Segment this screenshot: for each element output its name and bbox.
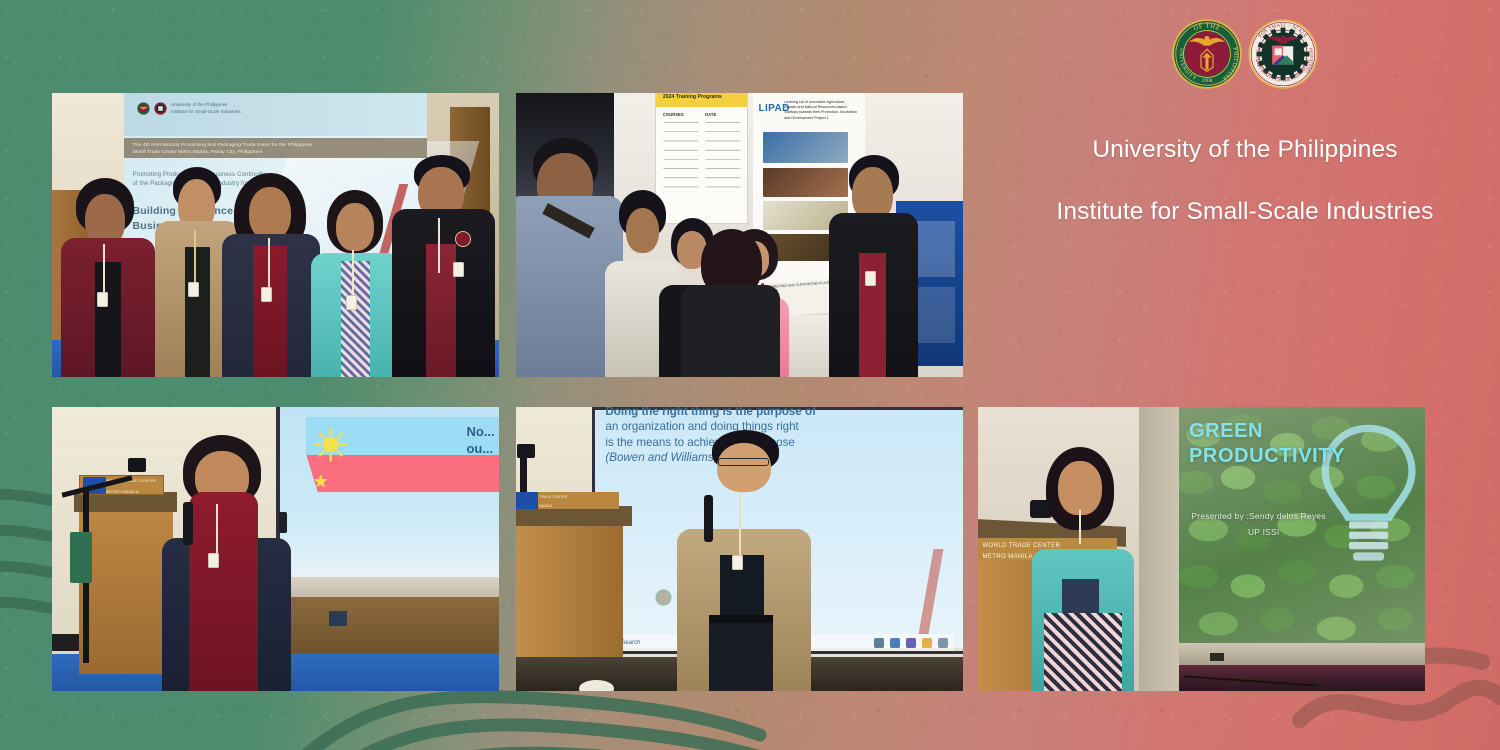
photo-green-productivity: GREEN PRODUCTIVITY Presented by :Sendy d…	[978, 407, 1425, 691]
page-title: University of the Philippines Institute …	[1040, 104, 1450, 258]
photo4-taskbar-icon-1[interactable]	[874, 638, 884, 648]
photo5-speaker-microphone	[1030, 500, 1053, 517]
photo2-visitor-2-head	[626, 208, 659, 253]
photo1-person-3	[222, 173, 320, 377]
photo2-staff-right-badge	[865, 271, 876, 286]
photo5-speaker-head	[1058, 461, 1101, 515]
photo4-podium-top	[516, 506, 632, 526]
photo1-slide-event: The 4th International Processing and Pac…	[132, 142, 409, 156]
photo5-speaker-lanyard	[1079, 510, 1081, 544]
up-seal-icon: OF THE UNIVERSITY PHILIPPINES 1908	[1171, 18, 1243, 90]
photo4-speaker-trousers	[709, 623, 773, 691]
photo4-speaker-head	[717, 443, 771, 493]
photo1-person-3-badge	[261, 287, 272, 302]
photo4-taskbar-icon-3[interactable]	[906, 638, 916, 648]
photo4-quote-line-1: Doing the right thing is the purpose of	[605, 407, 945, 419]
photo1-person-3-head	[249, 187, 290, 240]
photo-group-five: University of the Philippines Institute …	[52, 93, 499, 377]
photo3-screen-ledge	[276, 577, 500, 597]
photo1-person-5-inner	[426, 244, 457, 377]
photo4-speaker-belt	[709, 615, 773, 623]
photo3-presentation-screen: No... ou...	[280, 407, 499, 577]
photo1-slide-org: University of the Philippines Institute …	[171, 102, 241, 115]
photo5-speaker	[1032, 447, 1135, 691]
photo-speaker-flag: No... ou... WORLD TRADE CENTER METRO MAN…	[52, 407, 499, 691]
photo2-visitor-signing	[681, 229, 779, 377]
photo2-staff-right	[829, 155, 918, 377]
photo1-person-4-badge	[346, 295, 357, 310]
photo5-screen-glare	[1179, 407, 1425, 643]
photo3-speaker-badge	[208, 553, 219, 568]
photo1-person-4-inner	[341, 261, 370, 377]
photo1-person-1-inner	[95, 262, 121, 377]
photo4-podium-logo	[516, 492, 538, 509]
brand-title-line-2: Institute for Small-Scale Industries	[1040, 197, 1450, 228]
photo4-speaker-badge	[732, 555, 743, 570]
svg-text:1908: 1908	[1202, 78, 1213, 84]
photo2-visitor-signing-body	[681, 285, 779, 377]
photo1-person-5-lanyard	[438, 218, 440, 273]
photo-speaker-quote: Doing the right thing is the purpose of …	[516, 407, 963, 691]
photo3-microphone-head	[128, 458, 146, 472]
brand-title-line-1: University of the Philippines	[1040, 135, 1450, 166]
photo5-speaker-skirt	[1044, 613, 1122, 691]
up-seal-icon	[137, 102, 150, 115]
photo3-slide-text: No... ou...	[466, 424, 494, 458]
photo4-up-seal-icon	[655, 589, 672, 606]
photo3-wall-outlet	[329, 611, 347, 625]
photo4-speaker-lanyard	[739, 492, 741, 560]
photo3-speaker-microphone	[183, 502, 192, 545]
photo3-flag-sun-icon	[311, 419, 350, 470]
photo4-microphone-stand	[520, 452, 526, 492]
photo4-taskbar-icon-5[interactable]	[938, 638, 948, 648]
brand-block: OF THE UNIVERSITY PHILIPPINES 1908	[1040, 18, 1450, 258]
collage-canvas: University of the Philippines Institute …	[0, 0, 1500, 750]
photo3-flag-star-icon	[313, 470, 328, 492]
photo1-person-1-lanyard	[103, 244, 105, 296]
photo4-speaker-glasses	[718, 458, 769, 466]
photo1-person-5	[392, 155, 495, 377]
photo1-person-3-lanyard	[268, 238, 270, 291]
photo-booth: 2024 Training Programs COURSES DATE LIPA…	[516, 93, 963, 377]
seal-row: OF THE UNIVERSITY PHILIPPINES 1908	[1040, 18, 1450, 90]
photo4-microphone-head	[517, 444, 535, 458]
photo1-person-4-head	[336, 203, 374, 252]
photo1-person-4-lanyard	[352, 250, 354, 299]
up-issi-seal-icon: FOR SMALL - SCALE UNIVERSITY OF THE PHIL…	[1247, 18, 1319, 90]
photo5-podium-plaque-line2: METRO MANILA	[982, 554, 1032, 560]
photo5-ledge-outlet	[1210, 653, 1223, 662]
photo2-lipad-description: Leveling Up of Innovative Agriculture, A…	[784, 100, 858, 121]
photo5-presentation-screen: GREEN PRODUCTIVITY Presented by :Sendy d…	[1179, 407, 1425, 643]
photo4-taskbar-search-label: Search	[621, 640, 640, 646]
photo1-person-2-badge	[188, 282, 199, 297]
photo3-speaker-clicker	[279, 512, 287, 532]
photo3-speaker	[159, 435, 293, 691]
photo1-person-1	[61, 178, 155, 377]
photo1-person-2-lanyard	[194, 230, 196, 289]
up-issi-seal-icon	[154, 102, 167, 115]
photo3-fire-extinguisher	[70, 532, 92, 583]
photo1-slide-logos: University of the Philippines Institute …	[137, 102, 241, 115]
photo4-taskbar-icon-2[interactable]	[890, 638, 900, 648]
photo4-speaker	[677, 430, 811, 691]
photo4-taskbar-icon-4[interactable]	[922, 638, 932, 648]
photo1-person-4	[311, 190, 400, 377]
photo3-podium-plaque-line2: METRO MANILA	[106, 489, 139, 494]
photo5-wall-column	[1139, 407, 1179, 691]
photo4-speaker-microphone	[704, 495, 713, 542]
photo3-speaker-dress	[189, 492, 259, 691]
photo1-person-1-badge	[97, 292, 108, 307]
photo1-person-5-badge	[453, 262, 464, 277]
photo1-person-2-inner	[185, 247, 210, 377]
